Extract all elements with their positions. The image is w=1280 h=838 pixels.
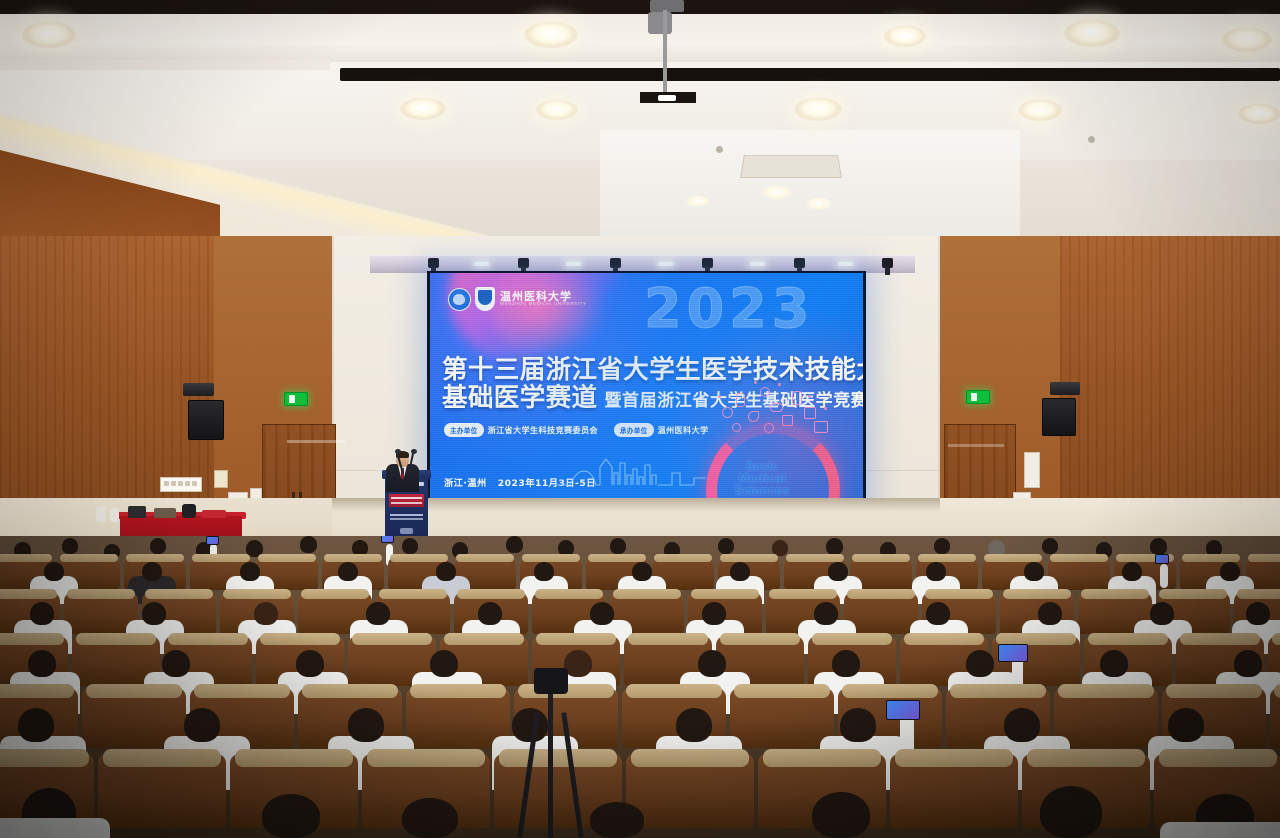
track-downlight-icon <box>838 262 853 266</box>
audience-person <box>0 818 110 838</box>
ceiling-panel-fill <box>0 60 330 70</box>
audience-head <box>142 562 162 581</box>
audience-head <box>1246 602 1270 625</box>
ceiling-recess <box>600 130 1020 240</box>
audience-head <box>1220 562 1240 581</box>
audience-head <box>402 798 458 838</box>
seat[interactable] <box>1054 688 1158 748</box>
smartphone-icon <box>381 536 394 543</box>
audience-head <box>142 602 166 625</box>
projector-body <box>648 12 672 34</box>
recessed-downlight-icon <box>22 22 76 48</box>
photo-scene: 2023 温州医科大学 WENZHOU MEDICAL UNIVERSITY 第… <box>0 0 1280 838</box>
banner-roll-icon <box>202 510 226 518</box>
wall-control-panel[interactable] <box>1024 452 1040 488</box>
smartphone-icon <box>998 644 1028 662</box>
audience-head <box>590 802 644 838</box>
audience-head <box>812 792 870 838</box>
audience-head <box>1150 538 1167 555</box>
recessed-downlight-icon <box>536 100 578 120</box>
audience-head <box>262 794 320 838</box>
audience-head <box>184 708 220 742</box>
track-downlight-icon <box>658 262 673 266</box>
recessed-downlight-icon <box>1222 28 1272 52</box>
audience-head <box>676 708 712 742</box>
audience-head <box>828 562 848 581</box>
audience-head <box>840 708 876 742</box>
recessed-downlight-icon <box>1018 100 1062 121</box>
seat[interactable] <box>1270 688 1280 748</box>
wall-speaker-icon <box>1042 398 1076 436</box>
seat[interactable] <box>626 754 754 828</box>
audience-head <box>506 536 523 553</box>
audience-head <box>30 602 54 625</box>
track-downlight-icon <box>566 262 581 266</box>
wall-speaker-icon <box>188 400 224 440</box>
audience-head <box>1004 708 1040 742</box>
ceiling-dark-edge <box>0 0 1280 14</box>
video-camera-icon <box>534 668 568 694</box>
audience-head <box>1024 562 1044 581</box>
led-screen[interactable]: 2023 温州医科大学 WENZHOU MEDICAL UNIVERSITY 第… <box>430 273 863 508</box>
audience-head <box>62 538 78 554</box>
audience-head <box>718 538 734 554</box>
recessed-downlight-icon <box>794 98 842 121</box>
seat[interactable] <box>890 754 1018 828</box>
audience-head <box>1100 650 1128 677</box>
water-bottle-icon <box>96 506 106 522</box>
ceiling-projector-icon <box>650 0 684 12</box>
audience-head <box>44 562 64 581</box>
tripod-leg <box>548 686 553 838</box>
bag-icon <box>128 506 146 518</box>
audience-head <box>28 650 56 677</box>
audience-head <box>1150 602 1174 625</box>
audience-head <box>18 708 54 742</box>
audience-head <box>534 562 554 581</box>
camera-bag-icon <box>182 504 196 518</box>
projector-rod <box>663 10 667 92</box>
audience-head <box>478 602 502 625</box>
podium-banner-text <box>389 494 424 507</box>
recessed-downlight-icon <box>1238 104 1280 124</box>
audience-area <box>0 536 1280 838</box>
audience-head <box>150 538 166 554</box>
exit-sign-icon[interactable] <box>966 390 990 404</box>
podium-subtext <box>390 514 423 516</box>
recessed-downlight-icon <box>686 196 710 207</box>
audience-head <box>826 538 843 555</box>
audience-head <box>512 708 548 742</box>
audience-head <box>366 602 390 625</box>
audience-head <box>254 602 278 625</box>
wall-notice-icon <box>214 470 228 488</box>
door-trim <box>287 440 345 443</box>
raised-arm <box>1160 564 1168 588</box>
led-pixel-texture <box>430 273 863 508</box>
audience-head <box>1042 538 1058 554</box>
audience-head <box>1234 650 1262 677</box>
smartphone-icon <box>886 700 920 720</box>
track-downlight-icon <box>474 262 489 266</box>
audience-head <box>926 562 946 581</box>
audience-head <box>1038 602 1062 625</box>
projector-lens-icon <box>658 95 676 101</box>
wall-switch-buttons[interactable] <box>164 481 169 486</box>
microphone-head-icon <box>395 449 401 454</box>
audience-head <box>632 562 652 581</box>
track-spotlight-icon <box>882 258 893 275</box>
podium-badge <box>400 528 413 534</box>
air-vent-icon <box>740 155 842 178</box>
audience-head <box>1122 562 1142 581</box>
audience-head <box>814 602 838 625</box>
smoke-detector-icon <box>716 146 723 153</box>
audience-head <box>564 650 592 677</box>
audience-head <box>436 562 456 581</box>
box-icon <box>154 508 176 518</box>
audience-head <box>296 650 324 677</box>
audience-head <box>338 562 358 581</box>
audience-head <box>1168 708 1204 742</box>
microphone-head-icon <box>411 449 417 454</box>
track-downlight-icon <box>750 262 765 266</box>
smoke-detector-icon <box>1088 136 1095 143</box>
exit-sign-icon[interactable] <box>284 392 308 406</box>
wall-speaker-icon <box>183 383 214 396</box>
audience-head <box>610 538 626 554</box>
audience-head <box>300 536 317 553</box>
audience-head <box>430 650 458 677</box>
wall-speaker-icon <box>1050 382 1080 395</box>
audience-head <box>162 650 190 677</box>
audience-head <box>730 562 750 581</box>
recessed-downlight-icon <box>884 26 926 47</box>
audience-head <box>590 602 614 625</box>
audience-head <box>702 602 726 625</box>
audience-head <box>402 538 418 554</box>
recessed-downlight-icon <box>762 186 792 200</box>
smartphone-icon <box>206 536 219 545</box>
audience-head <box>926 602 950 625</box>
seat[interactable] <box>98 754 226 828</box>
recessed-downlight-icon <box>524 22 578 48</box>
recessed-downlight-icon <box>1064 20 1120 47</box>
audience-head <box>1040 786 1102 838</box>
audience-person <box>1160 822 1280 838</box>
audience-head <box>934 538 950 554</box>
audience-head <box>966 650 994 677</box>
ceiling-light-slot <box>340 68 1280 81</box>
door-trim <box>948 444 1004 447</box>
audience-head <box>832 650 860 677</box>
seat[interactable] <box>730 688 834 748</box>
audience-head <box>348 708 384 742</box>
smartphone-icon <box>1155 554 1169 564</box>
recessed-downlight-icon <box>400 98 446 120</box>
audience-head <box>698 650 726 677</box>
audience-head <box>240 562 260 581</box>
recessed-downlight-icon <box>806 198 832 210</box>
water-bottle-icon <box>110 508 119 522</box>
